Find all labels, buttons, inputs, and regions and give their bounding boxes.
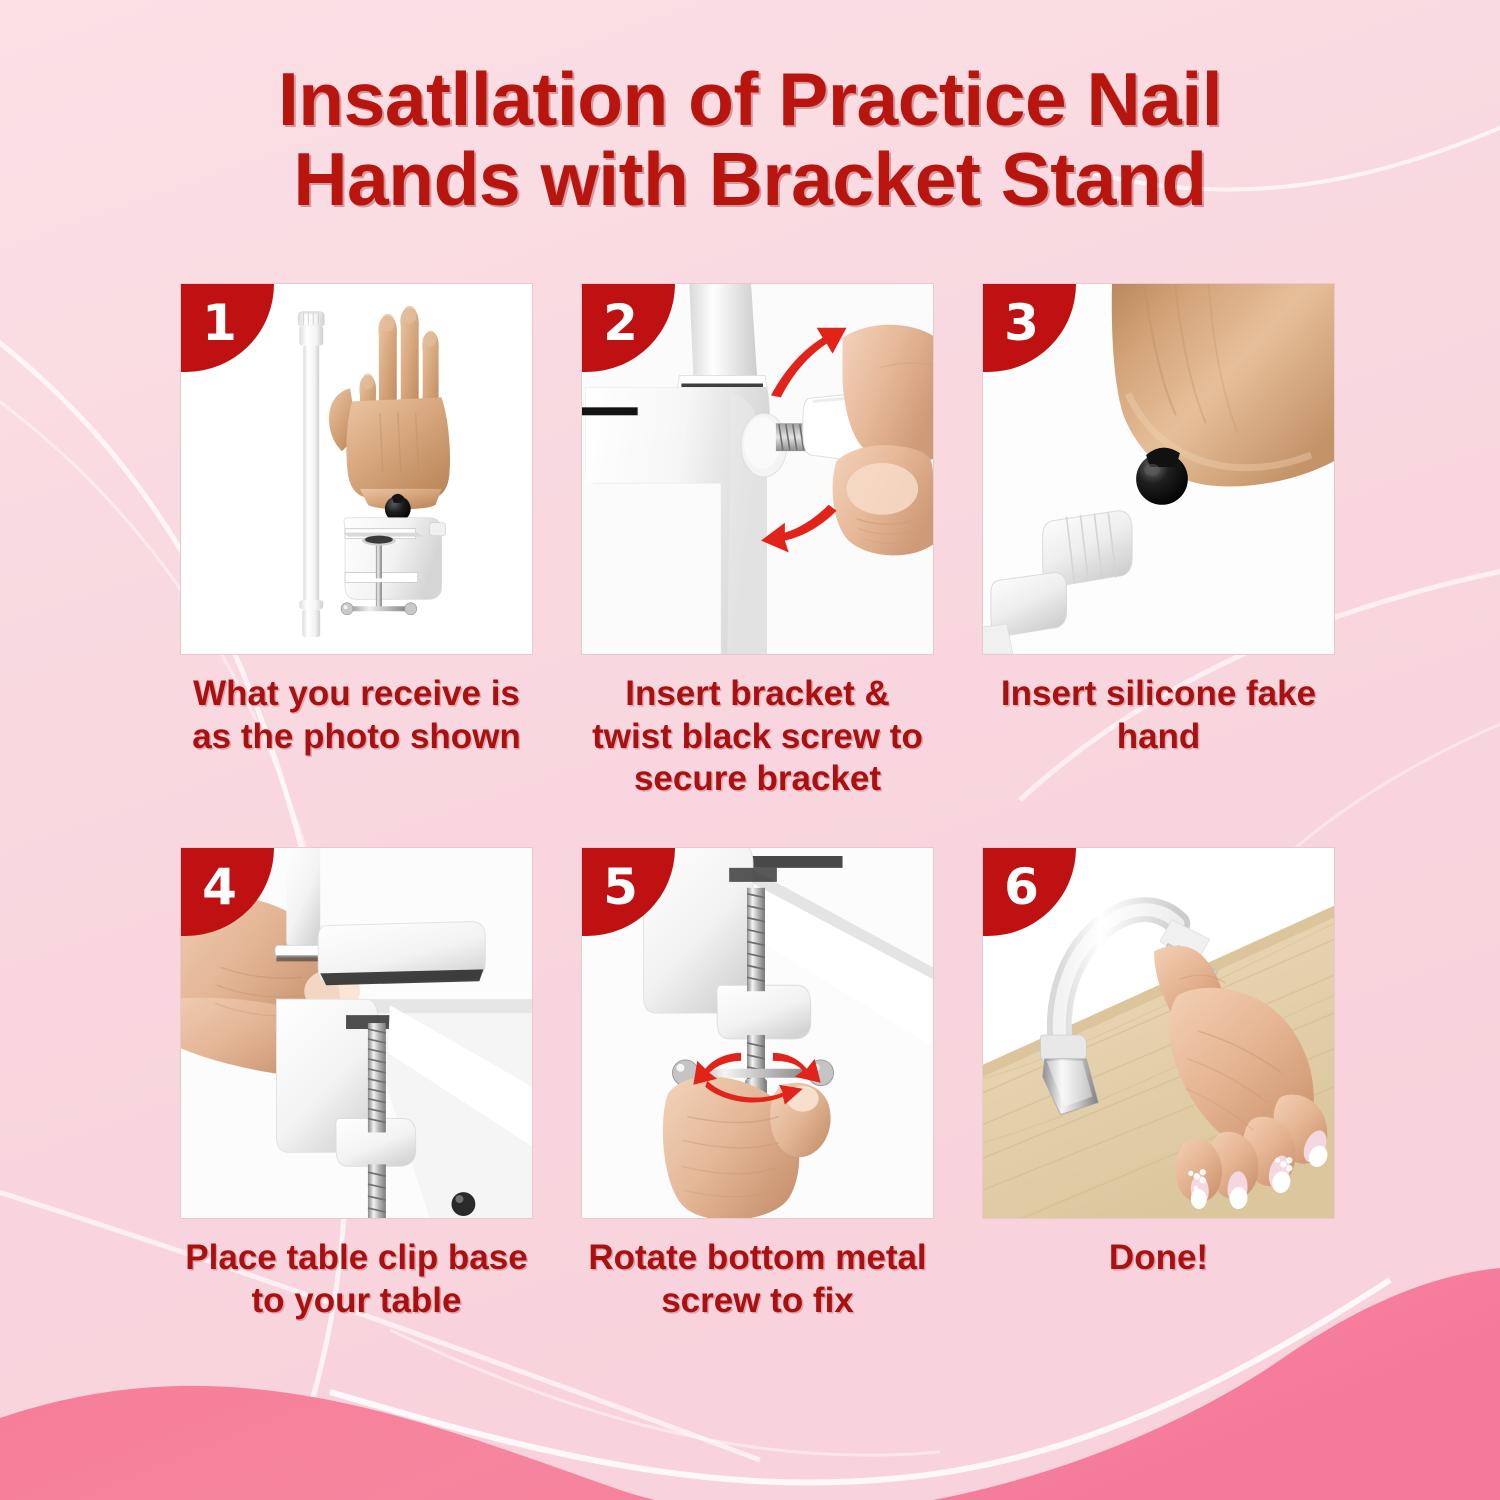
step-2: 2 Insert bracket & twist black screw to … <box>581 283 934 801</box>
step-3-number: 3 <box>1004 298 1039 348</box>
title-line-1: Insatllation of Practice Nail <box>0 60 1500 140</box>
step-1-panel: 1 <box>180 283 533 655</box>
step-6-panel: 6 <box>982 847 1335 1219</box>
step-1-number: 1 <box>202 298 237 348</box>
step-3-caption: Insert silicone fake hand <box>982 673 1335 758</box>
step-1: 1 What you receive is as the photo shown <box>180 283 533 801</box>
step-6-caption: Done! <box>982 1237 1335 1280</box>
steps-grid: 1 What you receive is as the photo shown <box>180 283 1336 1322</box>
step-3: 3 Insert silicone fake hand <box>982 283 1335 801</box>
step-4-caption: Place table clip base to your table <box>180 1237 533 1322</box>
step-5-caption: Rotate bottom metal screw to fix <box>581 1237 934 1322</box>
step-2-number: 2 <box>603 298 638 348</box>
bracket-slot-art <box>582 407 638 415</box>
step-6-number: 6 <box>1004 862 1039 912</box>
upper-tube-art <box>689 284 757 376</box>
step-5-panel: 5 <box>581 847 934 1219</box>
step-3-panel: 3 <box>982 283 1335 655</box>
step-1-caption: What you receive is as the photo shown <box>180 673 533 758</box>
step-4-number: 4 <box>202 862 237 912</box>
step-4-panel: 4 <box>180 847 533 1219</box>
title-line-2: Hands with Bracket Stand <box>0 140 1500 220</box>
step-4: 4 Place table clip base to your table <box>180 847 533 1322</box>
steps-row-top: 1 What you receive is as the photo shown <box>180 283 1336 801</box>
step-5: 5 Rotate bottom metal screw to fix <box>581 847 934 1322</box>
step-2-caption: Insert bracket & twist black screw to se… <box>581 673 934 801</box>
steps-row-bottom: 4 Place table clip base to your table <box>180 847 1336 1322</box>
page-title: Insatllation of Practice Nail Hands with… <box>0 60 1500 219</box>
step-2-panel: 2 <box>581 283 934 655</box>
step-5-number: 5 <box>603 862 638 912</box>
step-6: 6 Done! <box>982 847 1335 1322</box>
clamp-upper-pad-art <box>318 922 485 986</box>
